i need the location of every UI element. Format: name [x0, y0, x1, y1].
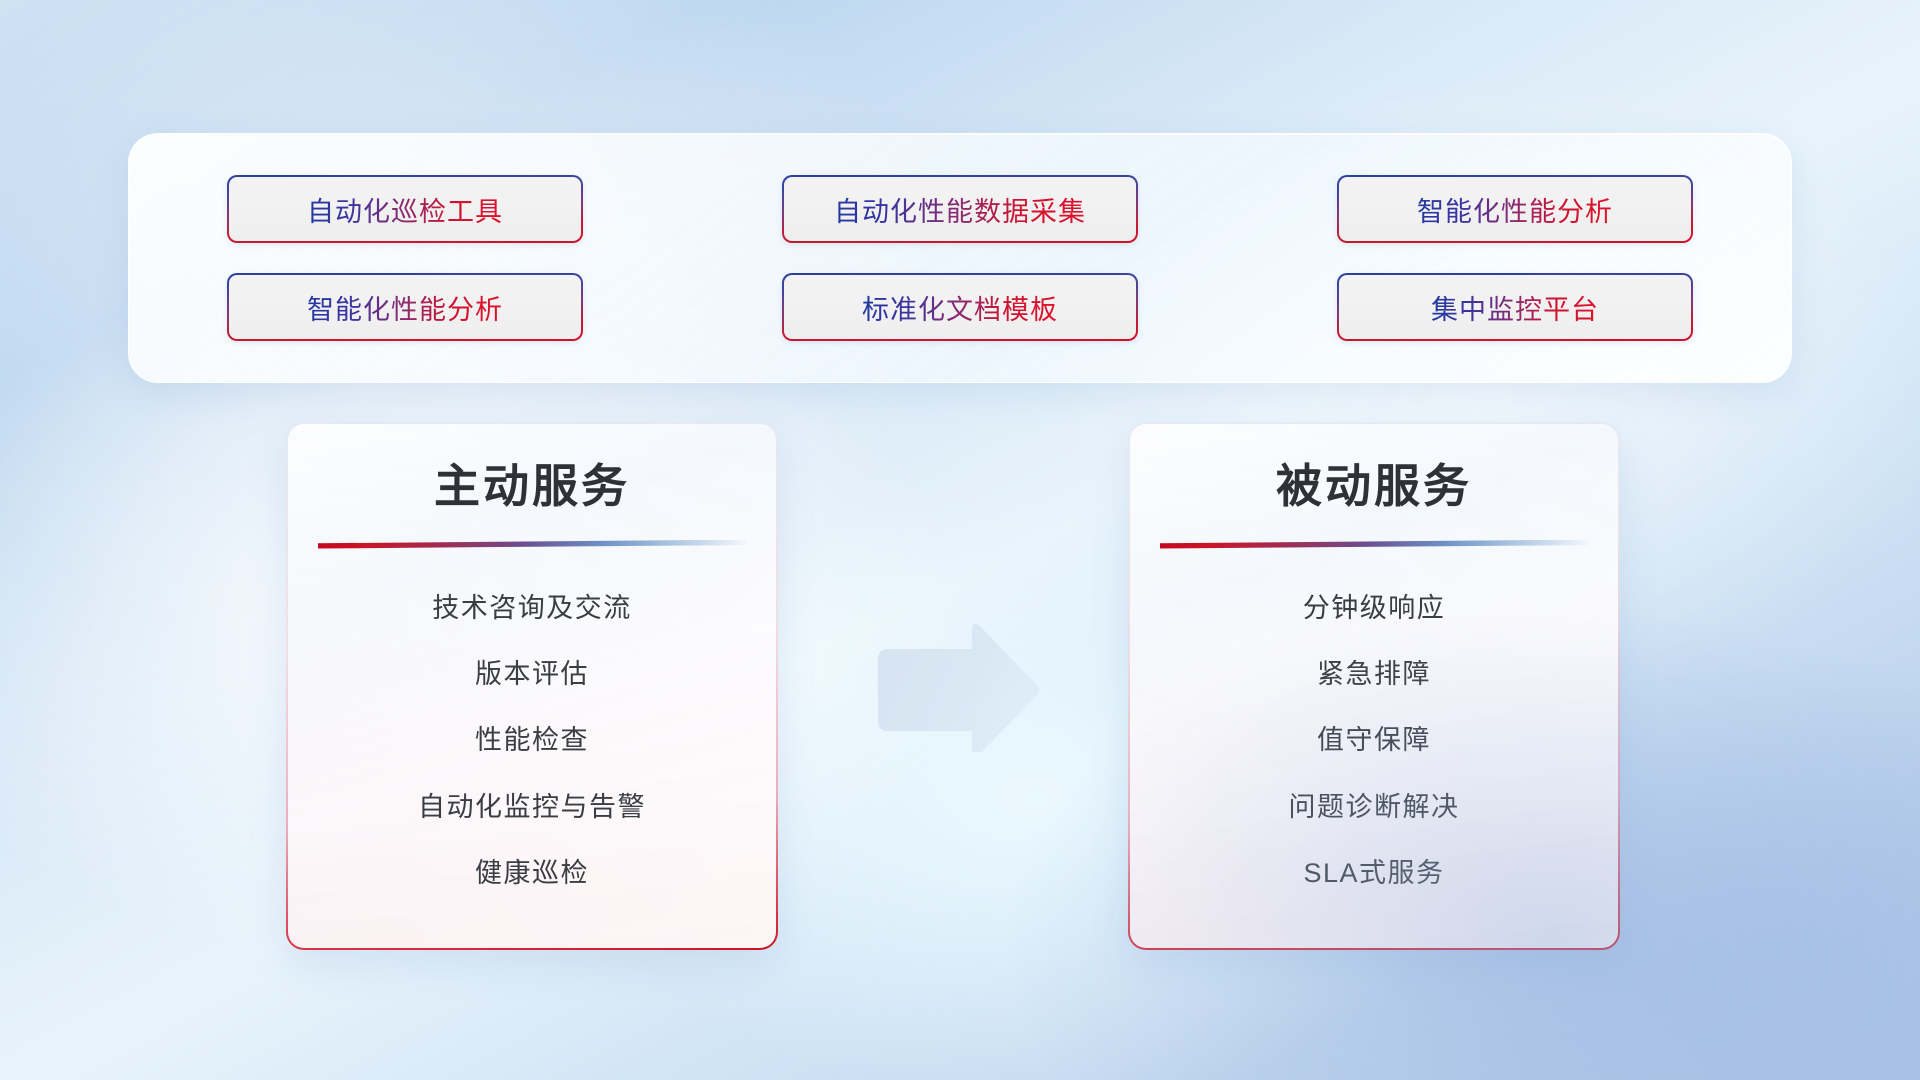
- card-item-list: 技术咨询及交流 版本评估 性能检查 自动化监控与告警 健康巡检: [288, 575, 776, 907]
- list-item: 问题诊断解决: [1289, 774, 1460, 840]
- capability-pill-standard-doc-template[interactable]: 标准化文档模板: [782, 273, 1138, 341]
- pill-surface: 集中监控平台: [1339, 275, 1691, 339]
- service-card-reactive[interactable]: 被动服务 分钟级响应 紧急排障 值守保障 问题诊断解决 SLA式服务: [1128, 422, 1620, 950]
- capability-pill-label: 智能化性能分析: [1417, 190, 1613, 229]
- card-divider: [1160, 540, 1588, 549]
- card-title: 被动服务: [1276, 458, 1472, 516]
- capability-pill-auto-inspection-tool[interactable]: 自动化巡检工具: [227, 175, 583, 243]
- list-item: 自动化监控与告警: [418, 774, 646, 840]
- capability-pill-label: 集中监控平台: [1431, 288, 1599, 327]
- card-title: 主动服务: [434, 458, 630, 516]
- list-item: 值守保障: [1317, 707, 1431, 773]
- capability-pill-intelligent-perf-analysis[interactable]: 智能化性能分析: [1337, 175, 1693, 243]
- pill-surface: 智能化性能分析: [229, 275, 581, 339]
- capability-pill-label: 标准化文档模板: [862, 288, 1058, 327]
- capability-pill-label: 自动化巡检工具: [307, 190, 503, 229]
- card-item-list: 分钟级响应 紧急排障 值守保障 问题诊断解决 SLA式服务: [1130, 575, 1618, 907]
- pill-surface: 标准化文档模板: [784, 275, 1136, 339]
- pill-surface: 自动化性能数据采集: [784, 177, 1136, 241]
- pill-surface: 自动化巡检工具: [229, 177, 581, 241]
- list-item: 版本评估: [475, 641, 589, 707]
- capability-pill-label: 智能化性能分析: [307, 288, 503, 327]
- card-surface: 被动服务 分钟级响应 紧急排障 值守保障 问题诊断解决 SLA式服务: [1130, 424, 1618, 948]
- list-item: 技术咨询及交流: [432, 575, 632, 641]
- capability-row-2: 智能化性能分析 标准化文档模板 集中监控平台: [227, 273, 1693, 341]
- capability-pill-central-monitoring-platform[interactable]: 集中监控平台: [1337, 273, 1693, 341]
- capability-pill-intelligent-perf-analysis-2[interactable]: 智能化性能分析: [227, 273, 583, 341]
- list-item: 分钟级响应: [1303, 575, 1446, 641]
- list-item: SLA式服务: [1303, 840, 1444, 906]
- capability-panel: 自动化巡检工具 自动化性能数据采集 智能化性能分析 智能化性能分析: [128, 133, 1792, 383]
- list-item: 健康巡检: [475, 840, 589, 906]
- pill-surface: 智能化性能分析: [1339, 177, 1691, 241]
- capability-row-1: 自动化巡检工具 自动化性能数据采集 智能化性能分析: [227, 175, 1693, 243]
- capability-pill-label: 自动化性能数据采集: [834, 190, 1086, 229]
- card-divider: [318, 540, 746, 549]
- capability-pill-auto-perf-data-collection[interactable]: 自动化性能数据采集: [782, 175, 1138, 243]
- list-item: 性能检查: [475, 707, 589, 773]
- list-item: 紧急排障: [1317, 641, 1431, 707]
- diagram-canvas: 自动化巡检工具 自动化性能数据采集 智能化性能分析 智能化性能分析: [0, 0, 1920, 1080]
- right-arrow-icon: [872, 620, 1044, 752]
- service-card-proactive[interactable]: 主动服务 技术咨询及交流 版本评估 性能检查 自动化监控与告警 健康巡检: [286, 422, 778, 950]
- card-surface: 主动服务 技术咨询及交流 版本评估 性能检查 自动化监控与告警 健康巡检: [288, 424, 776, 948]
